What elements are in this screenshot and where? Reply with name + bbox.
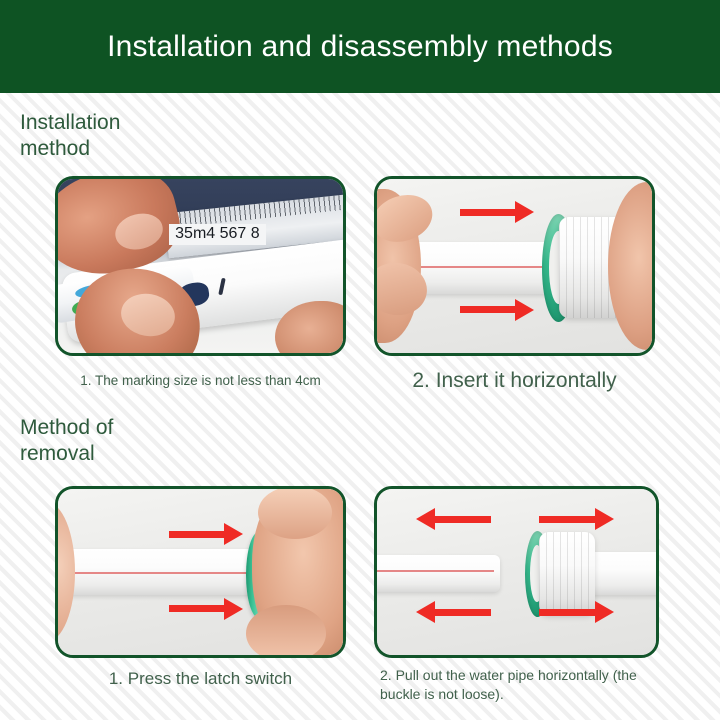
instruction-infographic: Installation and disassembly methods Ins… — [0, 0, 720, 720]
finger-upper — [258, 489, 332, 539]
step-panel-pull-out: 2. Pull out the water pipe horizontally … — [374, 486, 659, 704]
photo-frame-insert — [374, 176, 655, 356]
panel-caption: 1. Press the latch switch — [55, 668, 346, 690]
pipe-fitting-object — [539, 532, 595, 615]
photo-press-latch — [58, 489, 343, 655]
section-label-installation: Installation method — [20, 110, 190, 162]
arrow-left-icon — [433, 516, 492, 523]
pipe-red-line — [69, 572, 257, 574]
panel-caption: 2. Pull out the water pipe horizontally … — [374, 666, 659, 704]
photo-insert-pipe — [377, 179, 652, 353]
panel-caption: 1. The marking size is not less than 4cm — [55, 372, 346, 390]
arrow-right-icon — [169, 531, 226, 538]
photo-pull-out — [377, 489, 656, 655]
arrow-right-icon — [460, 306, 518, 313]
panel-caption: 2. Insert it horizontally — [374, 368, 655, 394]
photo-frame-pull-out — [374, 486, 659, 658]
arrow-right-icon — [169, 605, 226, 612]
pipe-red-line — [377, 570, 494, 572]
step-panel-insert: 2. Insert it horizontally — [374, 176, 655, 394]
page-header: Installation and disassembly methods — [0, 0, 720, 93]
photo-marking-pipe: 35m4 567 8 — [58, 179, 343, 353]
photo-frame-marking: 35m4 567 8 — [55, 176, 346, 356]
arrow-right-icon — [539, 516, 598, 523]
arrow-left-icon — [433, 609, 492, 616]
measurement-overlay-text: 35m4 567 8 — [169, 224, 266, 245]
arrow-right-icon — [539, 609, 598, 616]
photo-frame-press-latch — [55, 486, 346, 658]
finger-lower — [246, 605, 326, 655]
step-panel-marking: 35m4 567 8 1. The marking size is not le… — [55, 176, 346, 390]
pipe-object-left — [377, 555, 500, 592]
arrow-right-icon — [460, 209, 518, 216]
step-panel-press-latch: 1. Press the latch switch — [55, 486, 346, 690]
section-label-removal: Method of removal — [20, 415, 190, 467]
fitting-ribs — [539, 532, 595, 615]
page-title: Installation and disassembly methods — [107, 30, 613, 64]
